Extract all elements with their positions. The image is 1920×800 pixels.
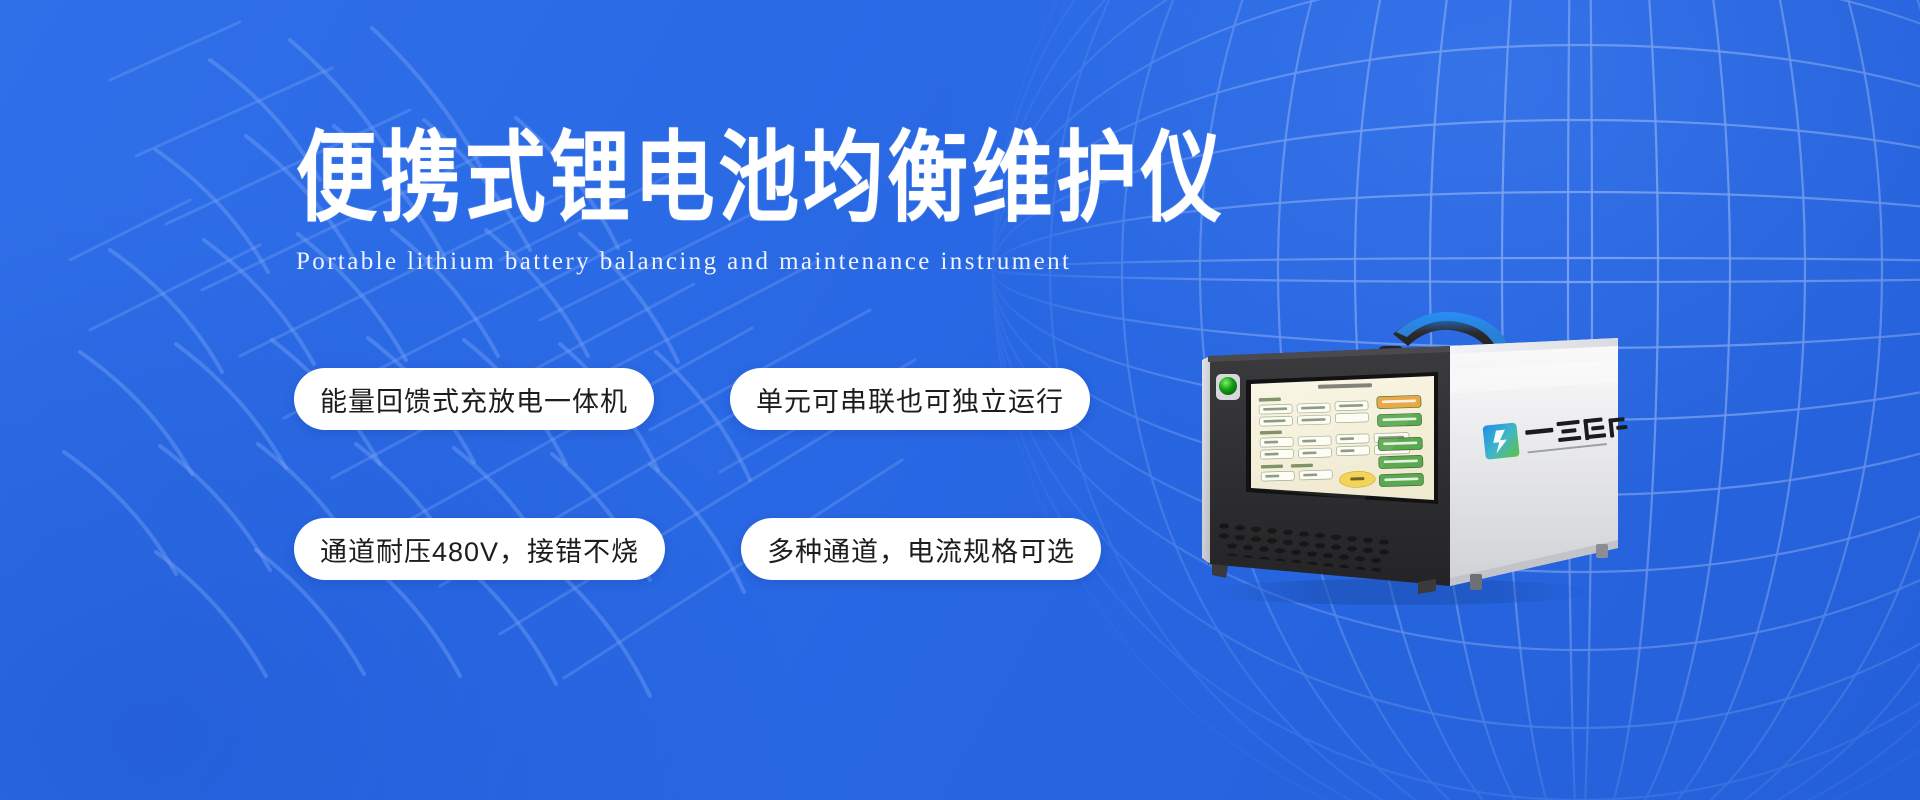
case-body <box>1450 338 1618 586</box>
page-title: 便携式锂电池均衡维护仪 <box>296 128 1352 227</box>
product-shadow <box>1204 579 1596 605</box>
power-indicator-led <box>1216 374 1240 400</box>
promotional-banner: 便携式锂电池均衡维护仪 Portable lithium battery bal… <box>0 0 1920 800</box>
feature-row-2: 通道耐压480V，接错不烧 多种通道，电流规格可选 <box>294 518 1114 580</box>
device-foot-front-left <box>1212 564 1228 578</box>
feature-pill-1[interactable]: 能量回馈式充放电一体机 <box>294 368 654 430</box>
device-foot-rear-left <box>1470 574 1482 590</box>
headline-block: 便携式锂电池均衡维护仪 Portable lithium battery bal… <box>296 128 1396 276</box>
feature-pill-4[interactable]: 多种通道，电流规格可选 <box>741 518 1101 580</box>
product-image-portable-battery-balancer <box>1150 286 1630 626</box>
feature-pill-3[interactable]: 通道耐压480V，接错不烧 <box>294 518 665 580</box>
touchscreen-display <box>1246 372 1438 504</box>
device-foot-rear-right <box>1596 544 1608 558</box>
page-subtitle: Portable lithium battery balancing and m… <box>296 248 1396 276</box>
feature-row-1: 能量回馈式充放电一体机 单元可串联也可独立运行 <box>294 368 1114 430</box>
feature-pill-2[interactable]: 单元可串联也可独立运行 <box>730 368 1090 430</box>
feature-pill-grid: 能量回馈式充放电一体机 单元可串联也可独立运行 通道耐压480V，接错不烧 多种… <box>294 368 1114 580</box>
